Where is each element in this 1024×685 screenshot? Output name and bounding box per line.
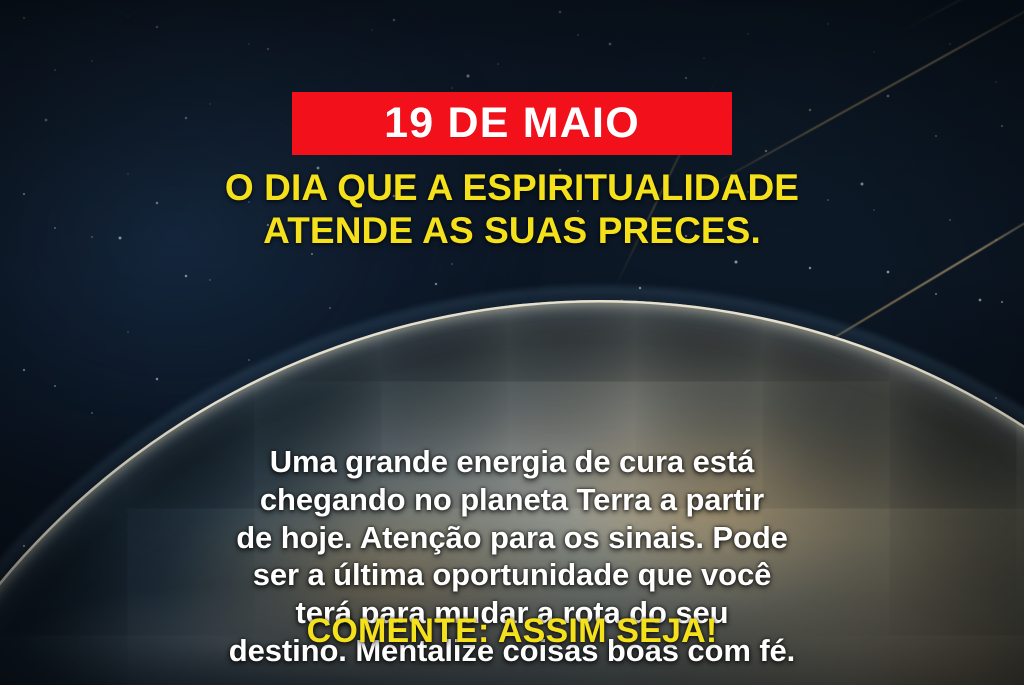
headline-line-1: O DIA QUE A ESPIRITUALIDADE — [44, 166, 980, 209]
body-line-4: ser a última oportunidade que você — [32, 556, 992, 594]
cta-label: COMENTE: ASSIM SEJA! — [307, 612, 718, 650]
headline-line-2: ATENDE AS SUAS PRECES. — [44, 209, 980, 252]
date-banner-label: 19 DE MAIO — [384, 102, 640, 145]
poster-root: 19 DE MAIO O DIA QUE A ESPIRITUALIDADE A… — [0, 0, 1024, 685]
body-line-3: de hoje. Atenção para os sinais. Pode — [32, 519, 992, 557]
body-line-1: Uma grande energia de cura está — [32, 443, 992, 481]
date-banner: 19 DE MAIO — [292, 92, 732, 155]
call-to-action: COMENTE: ASSIM SEJA! — [0, 614, 1024, 648]
body-line-2: chegando no planeta Terra a partir — [32, 481, 992, 519]
poster-content: 19 DE MAIO O DIA QUE A ESPIRITUALIDADE A… — [0, 0, 1024, 685]
headline: O DIA QUE A ESPIRITUALIDADE ATENDE AS SU… — [0, 166, 1024, 253]
